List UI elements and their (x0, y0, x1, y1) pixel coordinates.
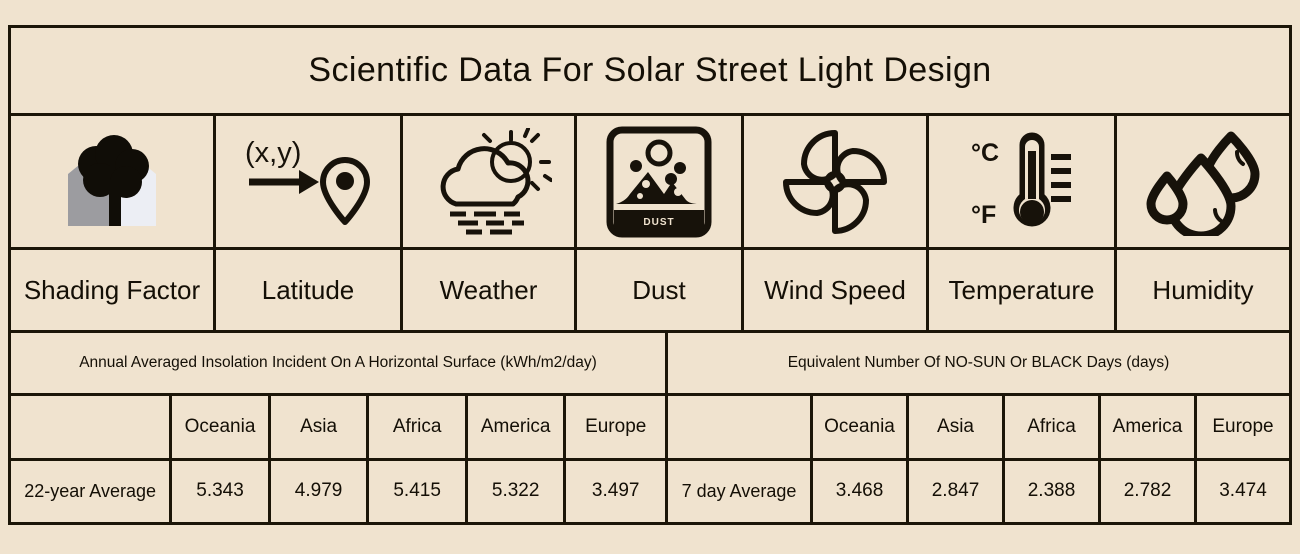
insolation-col-africa: Africa (369, 396, 468, 458)
black-days-value-europe: 3.474 (1197, 461, 1289, 523)
design-factors-band: (x,y) (11, 116, 1289, 333)
fan-blades-icon (780, 127, 890, 237)
factor-icon-cell-latitude: (x,y) (216, 116, 403, 247)
black-days-data-row: 7 day Average 3.468 2.847 2.388 2.782 3.… (668, 461, 1289, 523)
black-days-col-america: America (1101, 396, 1197, 458)
factor-icon-cell-weather (403, 116, 577, 247)
factor-icon-row: (x,y) (11, 116, 1289, 250)
insolation-value-europe: 3.497 (566, 461, 665, 523)
insolation-row-label: 22-year Average (11, 461, 172, 523)
factor-label-shading-factor: Shading Factor (11, 250, 216, 330)
sun-cloud-mist-icon (426, 128, 552, 236)
data-tables-band: Annual Averaged Insolation Incident On A… (11, 333, 1289, 522)
dust-card-icon: DUST (606, 126, 712, 238)
factor-label-weather: Weather (403, 250, 577, 330)
insolation-data-row: 22-year Average 5.343 4.979 5.415 5.322 … (11, 461, 665, 523)
black-days-value-africa: 2.388 (1005, 461, 1101, 523)
map-pin-coordinates-icon: (x,y) (241, 130, 376, 234)
dust-badge-label: DUST (643, 217, 674, 228)
black-days-col-europe: Europe (1197, 396, 1289, 458)
black-days-value-america: 2.782 (1101, 461, 1197, 523)
celsius-label: °C (971, 139, 999, 167)
factor-icon-cell-shading-factor (11, 116, 216, 247)
factor-icon-cell-humidity (1117, 116, 1289, 247)
insolation-col-oceania: Oceania (172, 396, 271, 458)
insolation-value-asia: 4.979 (271, 461, 370, 523)
insolation-col-europe: Europe (566, 396, 665, 458)
fahrenheit-label: °F (971, 201, 996, 229)
insolation-corner-cell (11, 396, 172, 458)
insolation-header-row: Oceania Asia Africa America Europe (11, 396, 665, 461)
factor-label-humidity: Humidity (1117, 250, 1289, 330)
insolation-col-asia: Asia (271, 396, 370, 458)
factor-label-dust: Dust (577, 250, 744, 330)
factor-label-row: Shading Factor Latitude Weather Dust Win… (11, 250, 1289, 333)
black-days-header-row: Oceania Asia Africa America Europe (668, 396, 1289, 461)
insolation-table-caption: Annual Averaged Insolation Incident On A… (11, 333, 665, 396)
black-days-table: Equivalent Number Of NO-SUN Or BLACK Day… (668, 333, 1289, 522)
black-days-row-label: 7 day Average (668, 461, 813, 523)
water-droplets-icon (1145, 128, 1261, 236)
factor-icon-cell-wind-speed (744, 116, 929, 247)
black-days-caption-text: Equivalent Number Of NO-SUN Or BLACK Day… (788, 354, 1170, 372)
factor-label-temperature: Temperature (929, 250, 1117, 330)
title-row: Scientific Data For Solar Street Light D… (11, 28, 1289, 116)
black-days-value-asia: 2.847 (909, 461, 1005, 523)
black-days-col-oceania: Oceania (813, 396, 909, 458)
insolation-value-africa: 5.415 (369, 461, 468, 523)
insolation-caption-text: Annual Averaged Insolation Incident On A… (79, 354, 597, 372)
black-days-corner-cell (668, 396, 813, 458)
factor-icon-cell-dust: DUST (577, 116, 744, 247)
factor-label-latitude: Latitude (216, 250, 403, 330)
black-days-value-oceania: 3.468 (813, 461, 909, 523)
insolation-col-america: America (468, 396, 567, 458)
tree-shadow-icon (48, 130, 176, 234)
factor-icon-cell-temperature: °C °F (929, 116, 1117, 247)
page-title: Scientific Data For Solar Street Light D… (308, 51, 991, 90)
black-days-table-caption: Equivalent Number Of NO-SUN Or BLACK Day… (668, 333, 1289, 396)
black-days-col-asia: Asia (909, 396, 1005, 458)
latitude-coordinate-label: (x,y) (245, 137, 301, 169)
insolation-table: Annual Averaged Insolation Incident On A… (11, 333, 668, 522)
thermometer-icon: °C °F (963, 127, 1081, 237)
factor-label-wind-speed: Wind Speed (744, 250, 929, 330)
insolation-value-oceania: 5.343 (172, 461, 271, 523)
data-sheet: Scientific Data For Solar Street Light D… (8, 25, 1292, 525)
black-days-col-africa: Africa (1005, 396, 1101, 458)
insolation-value-america: 5.322 (468, 461, 567, 523)
